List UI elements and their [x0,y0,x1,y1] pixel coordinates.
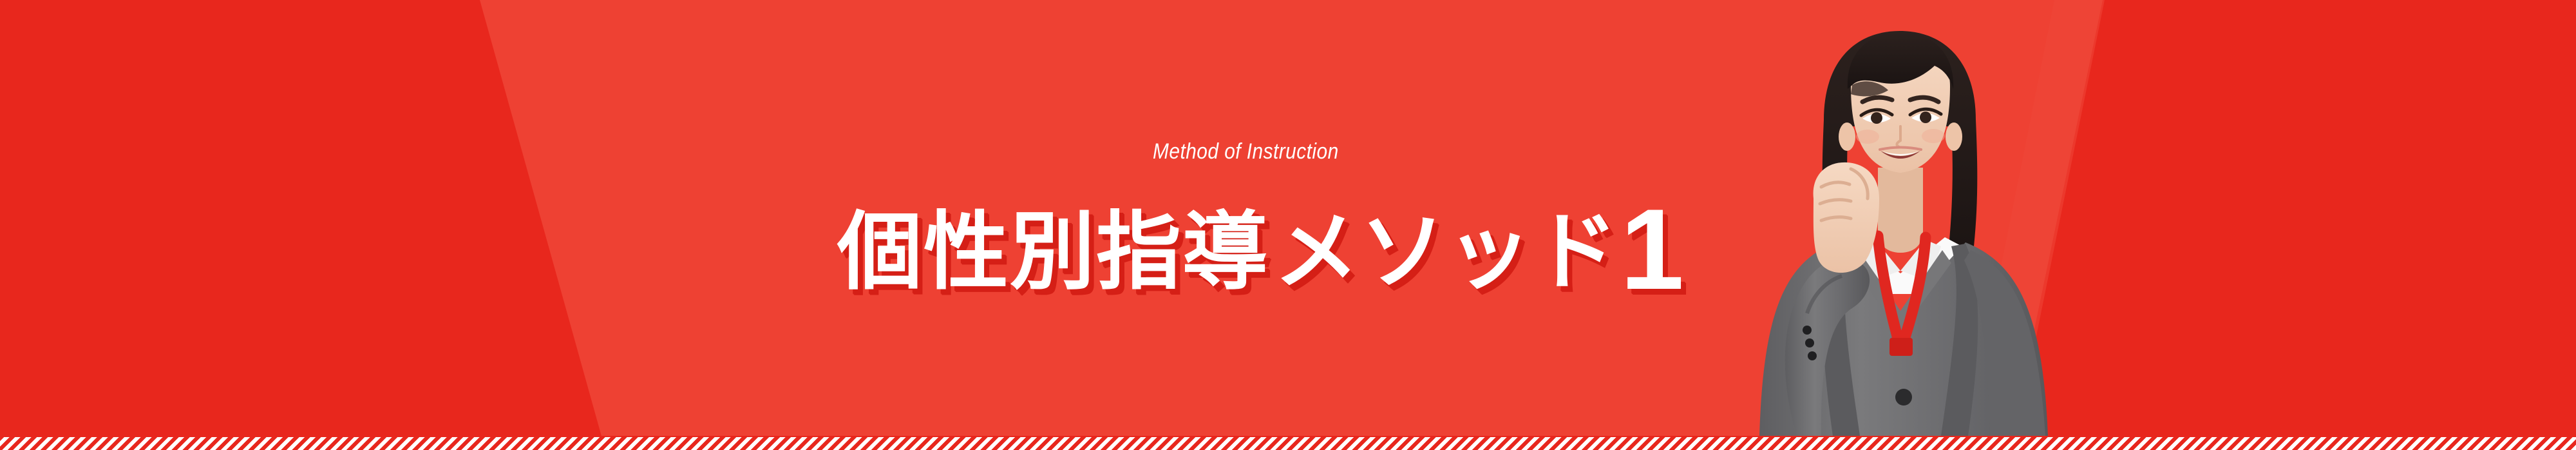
lanyard-clip [1889,338,1913,356]
neck [1878,168,1923,253]
jacket-button [1895,389,1912,406]
headline-number: 1 [1620,185,1684,313]
hero-banner: Method of Instruction 個性別指導メソッド1 [0,0,2576,450]
cheek-right [1922,129,1945,143]
cuff-button-3 [1808,351,1817,360]
ear-right [1946,122,1962,151]
cuff-button-2 [1805,338,1814,347]
pupil-right [1920,112,1931,123]
pupil-left [1871,112,1882,124]
page-title: 個性別指導メソッド1 [837,184,1684,299]
businesswoman-photo [1687,10,2087,436]
eyebrow-text: Method of Instruction [1153,141,1339,162]
cuff-button-1 [1803,326,1812,335]
ear-left [1839,122,1855,151]
headline-block: Method of Instruction 個性別指導メソッド1 [0,0,1790,450]
headline-kana: メソッド [1274,204,1619,299]
cheek-left [1856,130,1879,144]
headline-kanji: 個性別指導 [837,204,1269,299]
